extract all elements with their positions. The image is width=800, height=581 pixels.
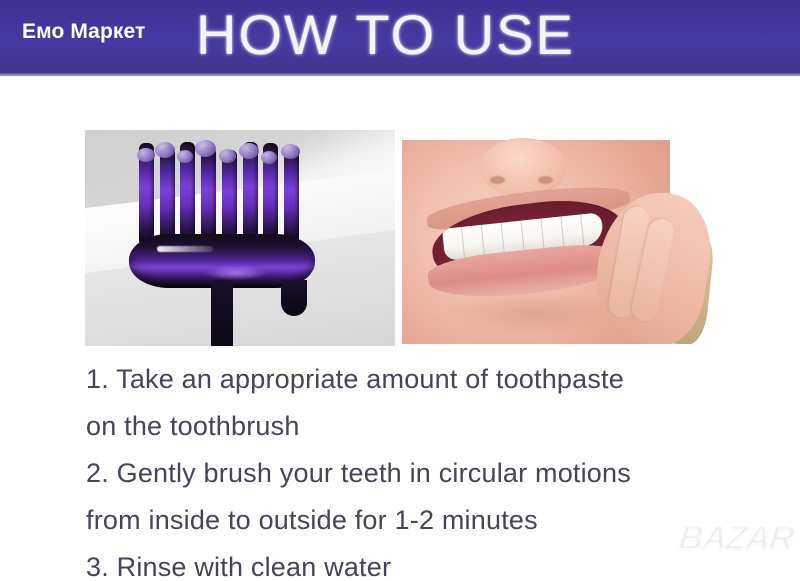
brush-head-glow: [205, 266, 267, 280]
toothpaste-drip: [281, 280, 307, 316]
instruction-line: on the toothbrush: [86, 403, 786, 450]
foam-blob: [219, 149, 236, 163]
brush-head-highlight: [157, 246, 213, 252]
foam-blob: [177, 150, 193, 163]
instruction-line: from inside to outside for 1-2 minutes: [86, 497, 786, 544]
instruction-line: 2. Gently brush your teeth in circular m…: [86, 450, 786, 497]
instruction-line: 1. Take an appropriate amount of toothpa…: [86, 356, 786, 403]
instruction-line: 3. Rinse with clean water: [86, 544, 786, 581]
foam-blob: [155, 142, 175, 158]
photo-row: [0, 128, 800, 348]
bristle-foam-tips: [135, 138, 305, 172]
brush-handle: [211, 280, 233, 346]
nose: [480, 138, 566, 196]
chin-shadow: [442, 290, 622, 336]
how-to-use-infographic: Емо Маркет HOW TO USE: [0, 0, 800, 581]
foam-blob: [195, 140, 216, 157]
nostril-right: [538, 176, 553, 184]
page-title: HOW TO USE: [196, 2, 575, 68]
foam-blob: [281, 144, 300, 159]
toothbrush-photo: [85, 130, 395, 346]
foam-blob: [239, 143, 259, 159]
toothbrush-illustration: [85, 130, 395, 346]
foam-blob: [137, 148, 155, 162]
tooth: [581, 212, 604, 246]
smile-photo: [402, 132, 715, 344]
instruction-list: 1. Take an appropriate amount of toothpa…: [86, 356, 786, 581]
brand-label: Емо Маркет: [22, 18, 145, 46]
foam-blob: [261, 151, 277, 164]
header-banner: Емо Маркет HOW TO USE: [0, 0, 800, 76]
nostril-left: [490, 176, 505, 184]
